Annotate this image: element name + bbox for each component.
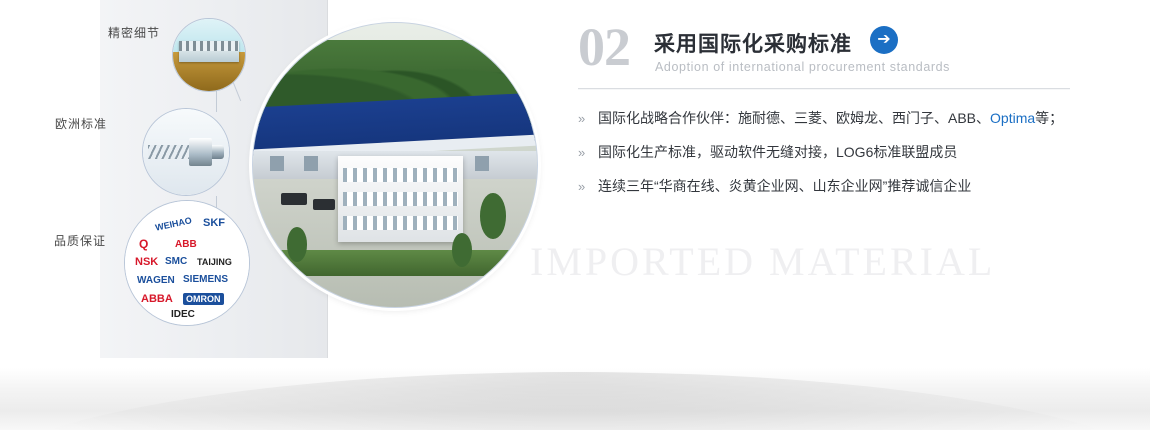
- bullet-marker-icon: »: [578, 179, 585, 195]
- list-item: » 连续三年“华商在线、炎黄企业网、山东企业网”推荐诚信企业: [578, 178, 1078, 195]
- bullet-accent-text: Optima: [990, 110, 1035, 126]
- brand-logo-smc: SMC: [165, 256, 187, 267]
- brand-logo-skf: SKF: [203, 217, 225, 229]
- list-item: » 国际化战略合作伙伴：施耐德、三菱、欧姆龙、西门子、ABB、Optima等；: [578, 110, 1078, 127]
- brand-logo-idec: IDEC: [171, 309, 195, 320]
- brand-logo-nsk: NSK: [135, 256, 158, 268]
- office-window-row: [343, 192, 458, 206]
- office-window-row: [343, 216, 458, 230]
- bullet-list: » 国际化战略合作伙伴：施耐德、三菱、欧姆龙、西门子、ABB、Optima等； …: [578, 110, 1078, 211]
- factory-parked-car: [313, 199, 336, 210]
- brand-logo-taijing: TAIJING: [197, 257, 232, 267]
- screw-photo-nut: [189, 138, 211, 166]
- photo-circle-ball-screw: [142, 108, 230, 196]
- factory-window: [304, 156, 318, 171]
- section-number: 02: [578, 20, 630, 74]
- brand-logo-abb: ABB: [175, 239, 197, 250]
- label-european-standard: 欧洲标准: [55, 115, 107, 132]
- brand-logo-siemens: SIEMENS: [183, 274, 228, 285]
- brand-logo-wagen: WAGEN: [137, 275, 175, 286]
- photo-circle-factory: [252, 22, 538, 308]
- factory-tree: [480, 193, 506, 238]
- factory-tree: [452, 233, 472, 267]
- list-item: » 国际化生产标准，驱动软件无缝对接，LOG6标准联盟成员: [578, 144, 1078, 161]
- label-precision-detail: 精密细节: [108, 24, 160, 41]
- factory-window: [475, 156, 489, 171]
- bullet-text: 连续三年“华商在线、炎黄企业网、山东企业网”推荐诚信企业: [598, 178, 971, 194]
- brand-logo-omron: OMRON: [183, 293, 224, 305]
- bullet-text: 国际化战略合作伙伴：施耐德、三菱、欧姆龙、西门子、ABB、: [598, 110, 990, 126]
- brand-logo-q: Q: [139, 237, 148, 251]
- watermark-text: IMPORTED MATERIAL: [530, 238, 1130, 285]
- factory-office-building: [338, 156, 463, 241]
- factory-parked-car: [281, 193, 307, 204]
- screw-photo-thread: [148, 145, 193, 159]
- section-header: 02 采用国际化采购标准 ➔ Adoption of international…: [578, 22, 1078, 84]
- factory-lawn-strip: [270, 250, 520, 276]
- bullet-text-tail: 等；: [1035, 110, 1063, 126]
- bullet-marker-icon: »: [578, 145, 585, 161]
- section-title-en: Adoption of international procurement st…: [655, 60, 950, 74]
- arrow-right-icon[interactable]: ➔: [870, 26, 898, 54]
- section-title-cn: 采用国际化采购标准: [654, 28, 852, 58]
- photo-circle-precision-detail: [172, 18, 246, 92]
- office-window-row: [343, 168, 458, 182]
- brand-logo-abba: ABBA: [141, 293, 173, 305]
- page-stage: 精密细节 欧洲标准 品质保证 WEIHAO SKF ABB Q SMC TAIJ…: [0, 0, 1150, 430]
- section-divider: [578, 88, 1070, 90]
- label-quality-guarantee: 品质保证: [54, 232, 106, 249]
- photo-circle-brand-logos: WEIHAO SKF ABB Q SMC TAIJING NSK WAGEN S…: [124, 200, 250, 326]
- factory-tree: [287, 227, 307, 261]
- bullet-marker-icon: »: [578, 111, 585, 127]
- section-content: 02 采用国际化采购标准 ➔ Adoption of international…: [578, 22, 1078, 84]
- bullet-text: 国际化生产标准，驱动软件无缝对接，LOG6标准联盟成员: [598, 144, 957, 160]
- detail-photo-rail-teeth: [179, 41, 239, 51]
- factory-window: [270, 156, 284, 171]
